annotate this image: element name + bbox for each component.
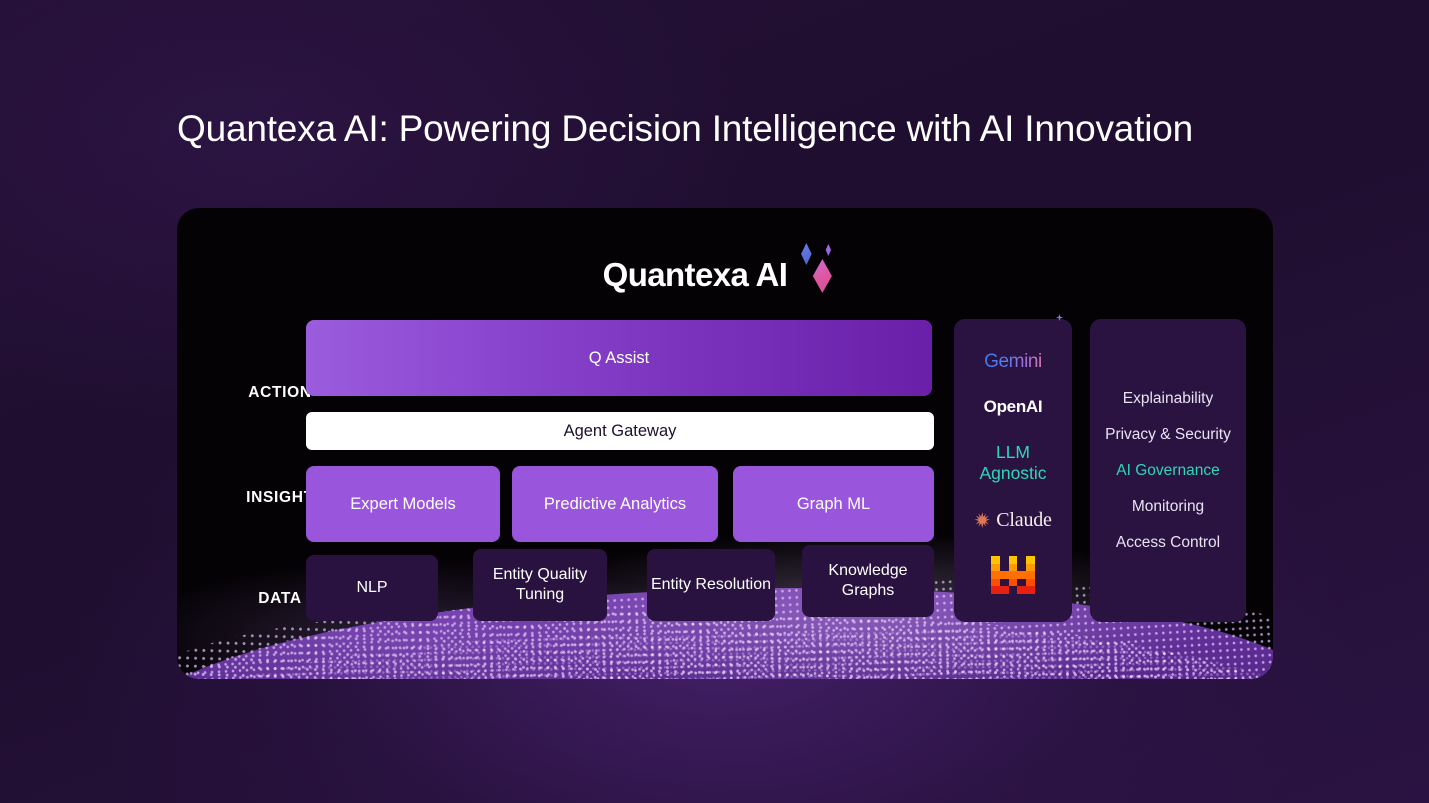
governance-item-privacy-security[interactable]: Privacy & Security	[1105, 426, 1231, 444]
llm-item-openai[interactable]: OpenAI	[954, 397, 1072, 417]
card-graph-ml[interactable]: Graph ML	[733, 466, 934, 542]
governance-panel: Explainability Privacy & Security AI Gov…	[1090, 319, 1246, 622]
architecture-panel: Quantexa AI ACTION INSIGHT DATA Q Assist…	[177, 208, 1273, 679]
sparkle-diamond-icon	[793, 243, 847, 295]
llm-agnostic-text: LLMAgnostic	[979, 442, 1046, 485]
card-entity-quality-tuning[interactable]: Entity Quality Tuning	[473, 549, 607, 621]
llm-item-gemini[interactable]: Gemini	[954, 351, 1072, 373]
governance-item-explainability[interactable]: Explainability	[1123, 390, 1213, 408]
claude-sunburst-icon	[974, 512, 990, 528]
openai-logo-text: OpenAI	[984, 397, 1043, 417]
llm-providers-panel: Gemini OpenAI LLMAgnostic Claude	[954, 319, 1072, 622]
governance-list: Explainability Privacy & Security AI Gov…	[1090, 319, 1246, 622]
governance-item-monitoring[interactable]: Monitoring	[1132, 498, 1204, 516]
llm-item-claude[interactable]: Claude	[954, 509, 1072, 532]
logo-wordmark: Quantexa AI	[603, 243, 788, 291]
card-predictive-analytics[interactable]: Predictive Analytics	[512, 466, 718, 542]
quantexa-ai-logo: Quantexa AI	[177, 243, 1273, 295]
page-title: Quantexa AI: Powering Decision Intellige…	[177, 108, 1193, 150]
gemini-sparkle-icon	[1056, 314, 1063, 321]
llm-item-mistral[interactable]	[954, 556, 1072, 594]
mistral-logo-icon	[991, 556, 1035, 594]
card-q-assist[interactable]: Q Assist	[306, 320, 932, 396]
card-expert-models[interactable]: Expert Models	[306, 466, 500, 542]
llm-agnostic-label: LLMAgnostic	[954, 442, 1072, 485]
card-knowledge-graphs[interactable]: Knowledge Graphs	[802, 545, 934, 617]
card-entity-resolution[interactable]: Entity Resolution	[647, 549, 775, 621]
card-agent-gateway[interactable]: Agent Gateway	[306, 412, 934, 450]
llm-agnostic-line1: LLM	[996, 442, 1030, 462]
llm-agnostic-line2: Agnostic	[979, 463, 1046, 483]
claude-logo-text: Claude	[996, 509, 1051, 532]
diamond-violet-icon	[822, 244, 834, 256]
card-nlp[interactable]: NLP	[306, 555, 438, 621]
diamond-pink-icon	[805, 259, 839, 293]
llm-provider-list: Gemini OpenAI LLMAgnostic Claude	[954, 319, 1072, 622]
diamond-blue-icon	[795, 243, 817, 265]
governance-item-ai-governance[interactable]: AI Governance	[1116, 462, 1219, 480]
governance-item-access-control[interactable]: Access Control	[1116, 534, 1220, 552]
gemini-logo-text: Gemini	[984, 351, 1042, 373]
